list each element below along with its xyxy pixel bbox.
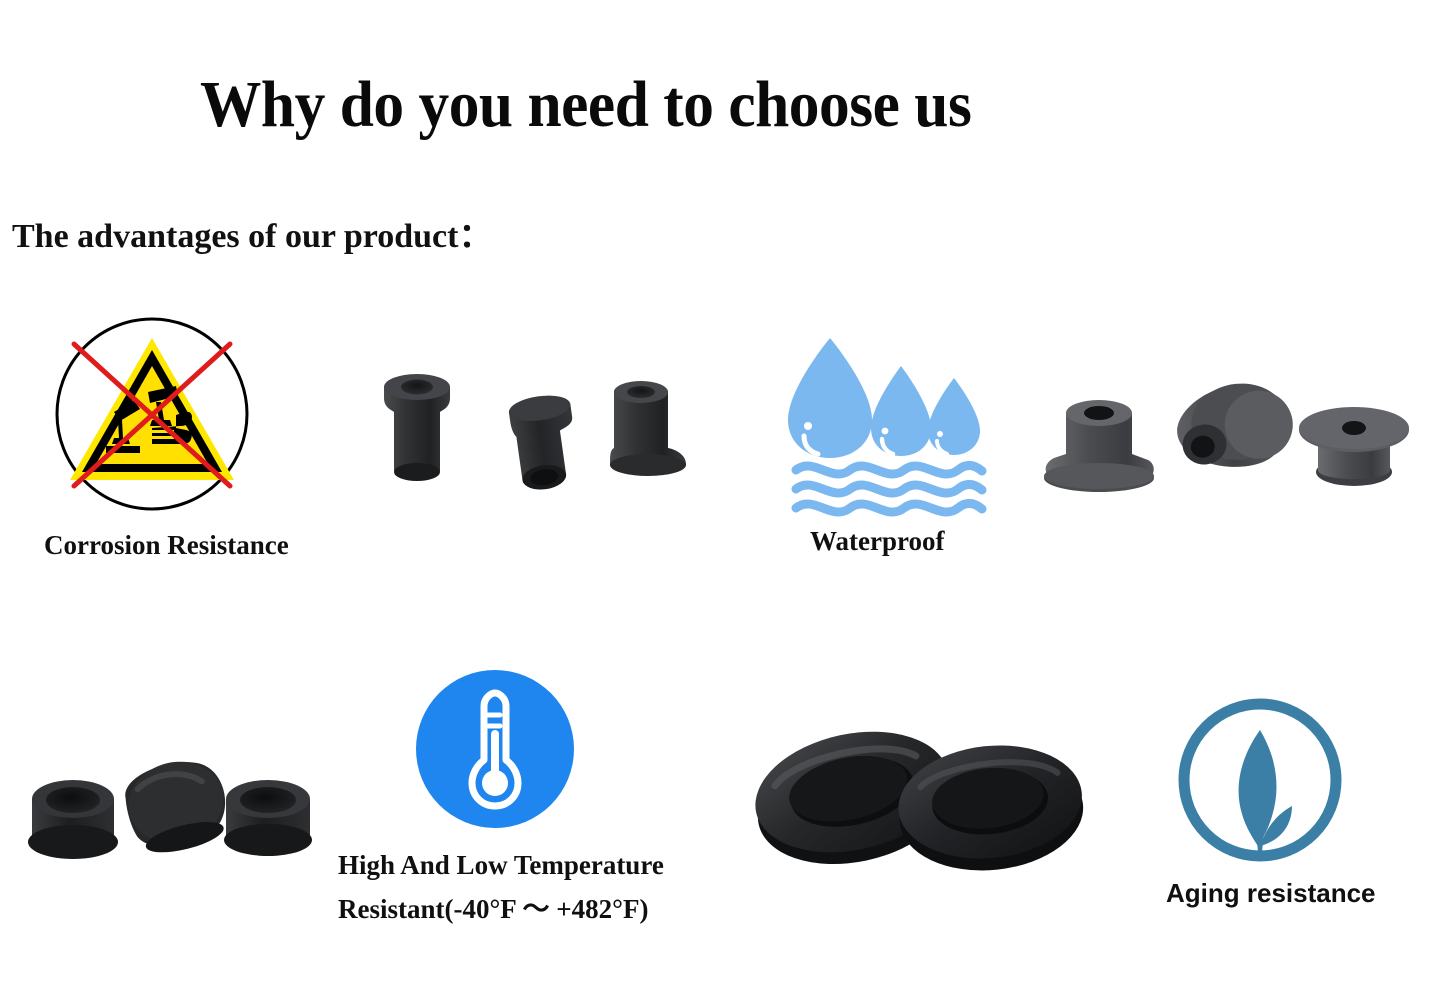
subtitle-advantages: The advantages of our product：: [12, 208, 492, 257]
caption-temperature-line1: High And Low Temperature: [338, 848, 664, 884]
caption-waterproof: Waterproof: [810, 524, 944, 560]
corrosion-hazard-crossed-out-icon: [52, 316, 252, 512]
product-image-rubber-seal-rings: [742, 718, 1100, 874]
product-image-flanged-rubber-grommets: [362, 352, 702, 510]
leaf-flame-circle-icon: [1174, 694, 1346, 866]
product-image-short-rubber-grommets: [18, 752, 324, 870]
caption-aging-resistance: Aging resistance: [1166, 876, 1376, 910]
caption-temperature-resistant: High And Low Temperature Resistant(-40°F…: [338, 848, 664, 927]
thermometer-circle-icon: [414, 668, 576, 830]
water-drops-waves-icon: [788, 328, 988, 508]
product-image-wide-flange-rubber-plugs: [1036, 368, 1408, 510]
infographic-canvas: Why do you need to choose us The advanta…: [0, 0, 1445, 983]
caption-temperature-line2: Resistant(-40°F ～ +482°F): [338, 892, 664, 928]
page-title: Why do you need to choose us: [200, 72, 1084, 138]
caption-corrosion-resistance: Corrosion Resistance: [44, 528, 289, 564]
